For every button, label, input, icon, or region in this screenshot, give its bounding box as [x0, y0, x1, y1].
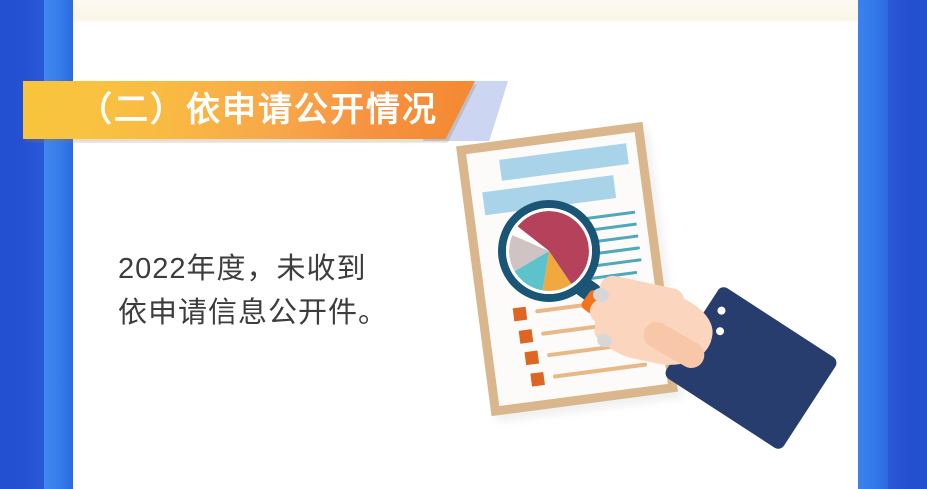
sleeve-button-1 [716, 305, 727, 316]
section-title-banner: （二）依申请公开情况 [23, 81, 508, 141]
magnifier-lens-rim [506, 208, 592, 294]
slide-canvas: （二）依申请公开情况 2022年度，未收到 依申请信息公开件。 [0, 0, 927, 489]
document-checkbox-4 [530, 372, 545, 387]
illustration-document-magnifier [455, 125, 815, 465]
document-checkbox-3 [525, 351, 540, 366]
left-light-stripe [44, 0, 73, 489]
section-title-text: （二）依申请公开情况 [78, 93, 438, 127]
hand-holding-magnifier [595, 280, 810, 460]
banner-body: （二）依申请公开情况 [23, 81, 475, 139]
left-dark-stripe [0, 0, 44, 489]
right-dark-stripe [888, 0, 927, 489]
body-line-2: 依申请信息公开件。 [118, 291, 418, 335]
body-line-1: 2022年度，未收到 [118, 247, 418, 291]
body-paragraph: 2022年度，未收到 依申请信息公开件。 [118, 247, 418, 335]
top-cream-band [73, 0, 858, 22]
right-light-stripe [858, 0, 888, 489]
sleeve-button-2 [715, 326, 726, 337]
